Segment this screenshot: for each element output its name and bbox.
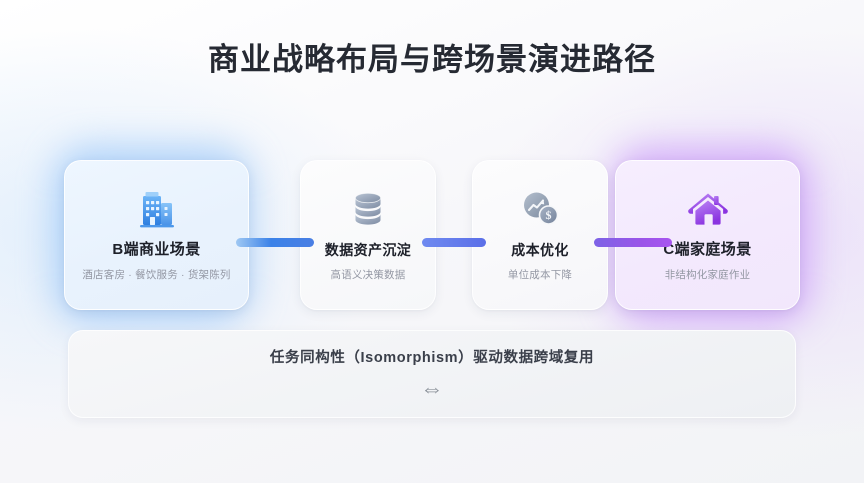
database-stack-icon	[350, 185, 386, 231]
card-subtitle: 单位成本下降	[508, 268, 572, 282]
chart-dollar-icon: $	[520, 185, 560, 231]
hotel-building-icon	[137, 185, 177, 231]
card-title: 成本优化	[511, 240, 569, 260]
strategy-flow-diagram: B端商业场景 酒店客房 · 餐饮服务 · 货架陈列 数据资产沉淀 高语义决策数据	[58, 160, 806, 310]
flow-card-c-end-home[interactable]: C端家庭场景 非结构化家庭作业	[615, 160, 800, 310]
connector-1	[236, 238, 314, 247]
banner-text: 任务同构性（Isomorphism）驱动数据跨域复用	[270, 348, 594, 368]
bidirectional-arrow-icon: ⇔	[421, 377, 444, 400]
svg-text:$: $	[546, 208, 552, 222]
card-title: B端商业场景	[112, 240, 200, 260]
flow-card-data-asset[interactable]: 数据资产沉淀 高语义决策数据	[300, 160, 436, 310]
card-title: 数据资产沉淀	[325, 240, 411, 260]
home-icon	[686, 185, 730, 231]
flow-card-cost-optimization[interactable]: $ 成本优化 单位成本下降	[472, 160, 608, 310]
card-title: C端家庭场景	[663, 240, 751, 260]
connector-3	[594, 238, 672, 247]
card-subtitle: 非结构化家庭作业	[665, 268, 751, 282]
isomorphism-banner: 任务同构性（Isomorphism）驱动数据跨域复用 ⇔	[68, 330, 796, 418]
card-subtitle: 酒店客房 · 餐饮服务 · 货架陈列	[82, 268, 230, 282]
flow-card-b-end-business[interactable]: B端商业场景 酒店客房 · 餐饮服务 · 货架陈列	[64, 160, 249, 310]
connector-2	[422, 238, 486, 247]
card-subtitle: 高语义决策数据	[331, 268, 406, 282]
page-title: 商业战略布局与跨场景演进路径	[0, 38, 864, 82]
